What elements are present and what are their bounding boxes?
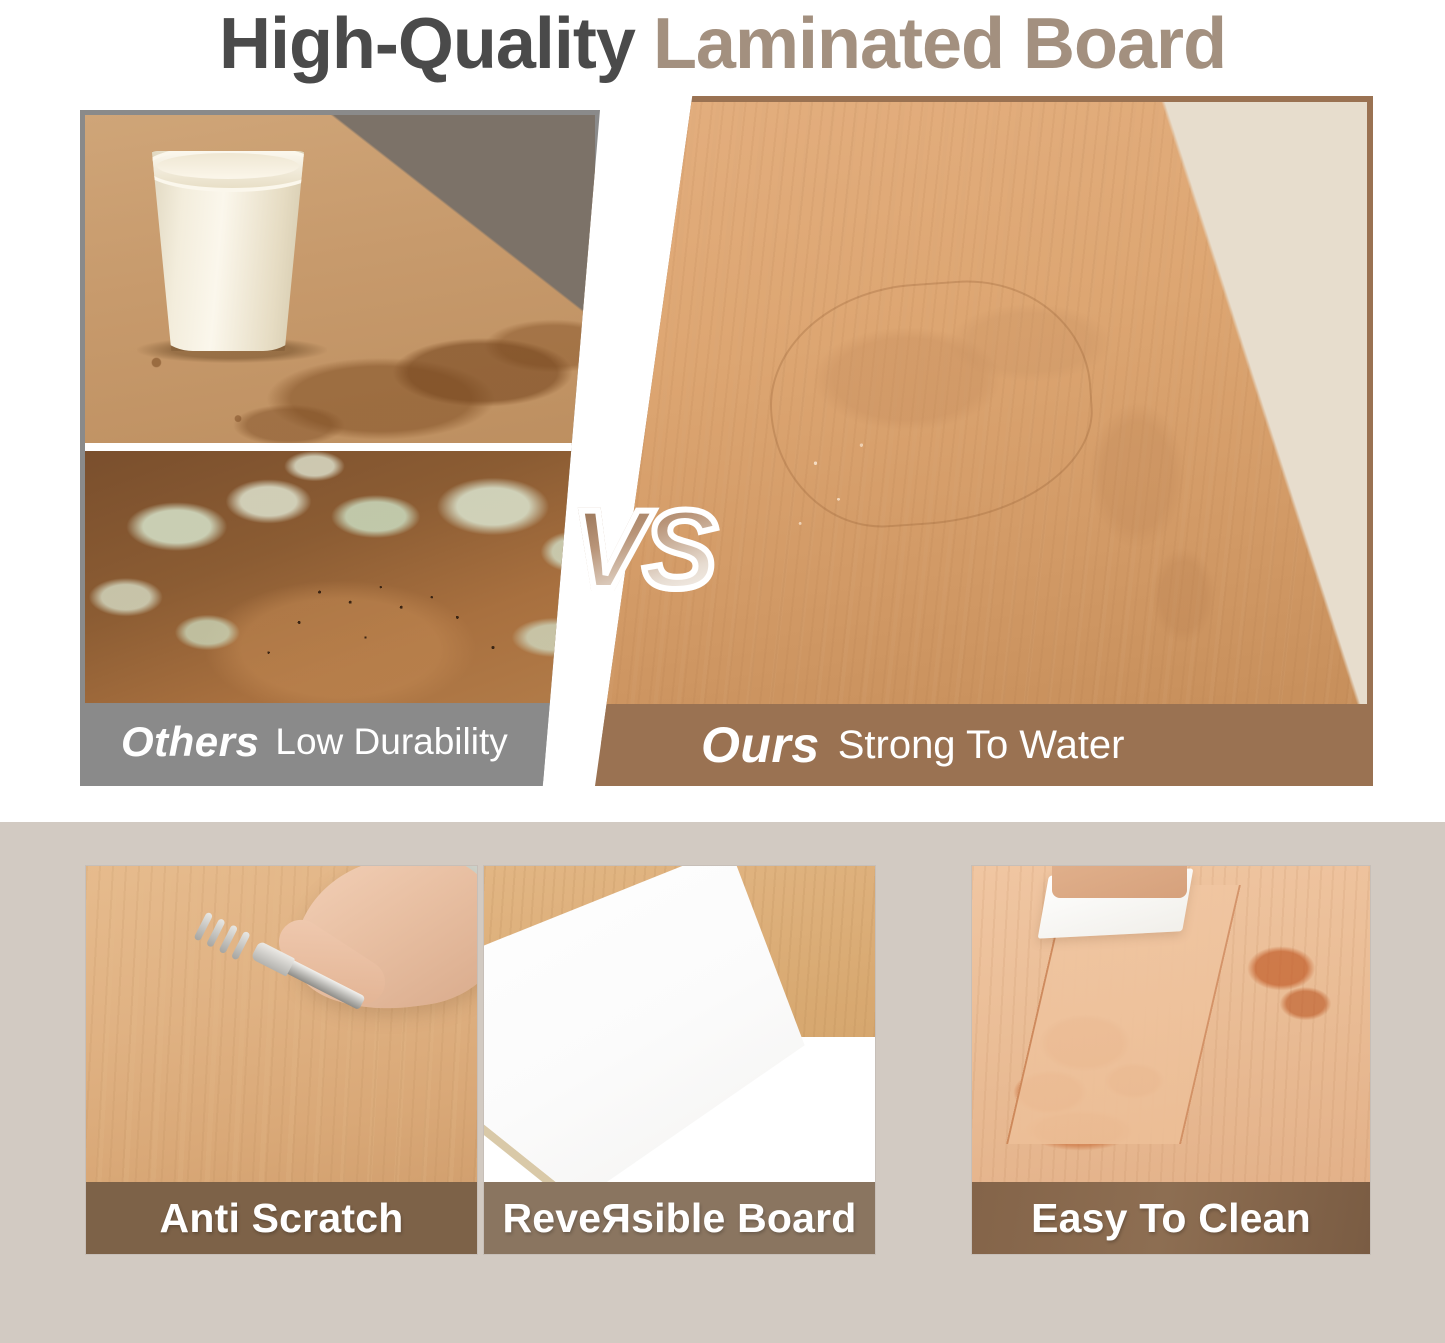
- others-panel: Others Low Durability: [80, 110, 600, 786]
- ours-panel: Ours Strong To Water: [595, 96, 1373, 786]
- others-caption-bar: Others Low Durability: [85, 703, 595, 781]
- reversible-board-photo: [484, 866, 875, 1182]
- feature-label-reversible-suffix: sible Board: [631, 1195, 856, 1242]
- feature-card-easy-to-clean: Easy To Clean: [972, 866, 1370, 1254]
- feature-caption-easy-to-clean: Easy To Clean: [972, 1182, 1370, 1254]
- features-section: Anti Scratch ReveRsible Board: [0, 822, 1445, 1343]
- feature-label-reversible-prefix: Reve: [502, 1195, 601, 1242]
- feature-label-easy-to-clean: Easy To Clean: [1031, 1195, 1311, 1242]
- others-sublabel: Low Durability: [275, 721, 507, 763]
- coffee-spill-photo: [85, 115, 595, 445]
- ours-sublabel: Strong To Water: [838, 723, 1125, 768]
- title-part-one: High-Quality: [219, 3, 635, 85]
- feature-caption-anti-scratch: Anti Scratch: [86, 1182, 477, 1254]
- water-beading-photo: [601, 102, 1367, 704]
- ours-label: Ours: [701, 716, 820, 774]
- ours-panel-inner: Ours Strong To Water: [601, 102, 1367, 786]
- paper-cup-icon: [147, 151, 309, 351]
- mold-specks: [85, 451, 595, 703]
- sauce-stain-right: [1211, 923, 1346, 1049]
- feature-card-reversible-board: ReveRsible Board: [484, 866, 875, 1254]
- mold-growth-photo: [85, 451, 595, 703]
- comparison-section: Others Low Durability Ours Strong To Wat…: [0, 96, 1445, 796]
- water-pool-outline: [762, 272, 1100, 535]
- product-infographic: High-Quality Laminated Board Others Low …: [0, 0, 1445, 1343]
- others-panel-inner: Others Low Durability: [85, 115, 595, 781]
- feature-label-anti-scratch: Anti Scratch: [160, 1195, 404, 1242]
- feature-caption-reversible-board: ReveRsible Board: [484, 1182, 875, 1254]
- wipe-clean-photo: [972, 866, 1370, 1182]
- photo-divider: [85, 443, 595, 451]
- fork-scratch-test-photo: [86, 866, 477, 1182]
- page-title: High-Quality Laminated Board: [0, 0, 1445, 88]
- feature-card-anti-scratch: Anti Scratch: [86, 866, 477, 1254]
- others-label: Others: [121, 718, 259, 766]
- ours-caption-bar: Ours Strong To Water: [601, 704, 1367, 786]
- vs-badge: VS: [572, 494, 713, 606]
- mirrored-r-glyph: R: [601, 1195, 631, 1242]
- hand-icon: [1052, 866, 1187, 898]
- title-part-two: Laminated Board: [653, 3, 1226, 85]
